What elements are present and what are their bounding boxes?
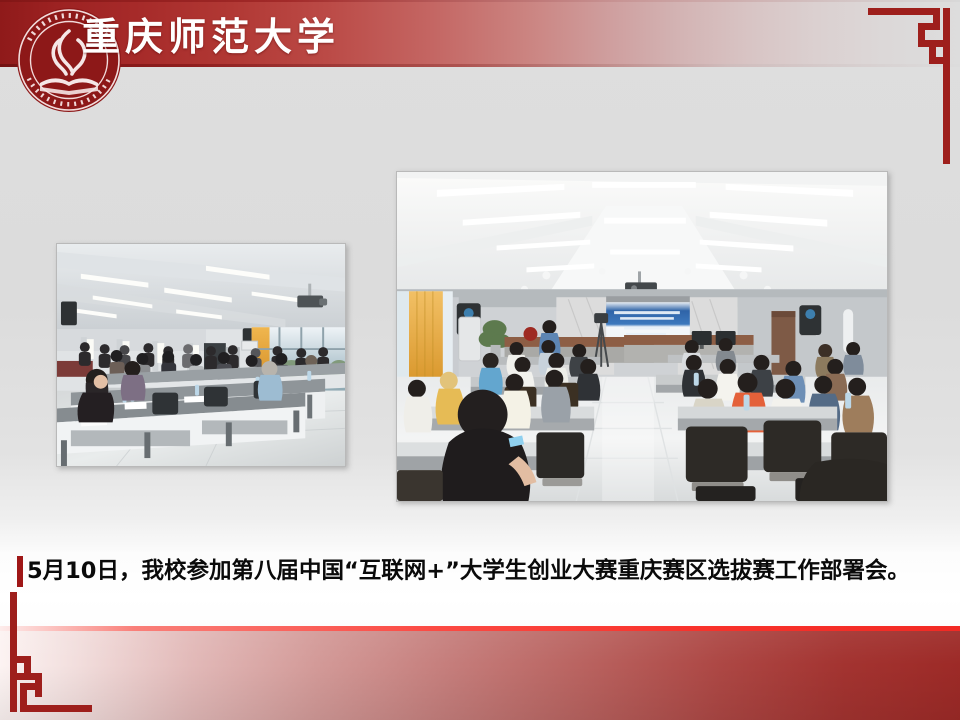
presentation-slide: 重庆师范大学	[0, 0, 960, 720]
chinese-corner-ornament-top-right-icon	[868, 8, 950, 164]
photo-left	[56, 243, 346, 467]
caption-text: 5月10日，我校参加第八届中国“互联网+”大学生创业大赛重庆赛区选拔赛工作部署会…	[27, 560, 910, 583]
caption-bar: 5月10日，我校参加第八届中国“互联网+”大学生创业大赛重庆赛区选拔赛工作部署会…	[0, 550, 960, 592]
header-top-edge	[0, 0, 960, 2]
university-seal-icon	[16, 7, 69, 60]
footer-red-band-shading	[0, 631, 960, 720]
header-bottom-edge	[0, 64, 960, 67]
photo-right	[396, 171, 888, 502]
chinese-corner-ornament-bottom-left-overlay-icon	[10, 592, 92, 712]
university-name-title: 重庆师范大学	[82, 8, 340, 58]
caption-accent-bar	[17, 556, 23, 587]
